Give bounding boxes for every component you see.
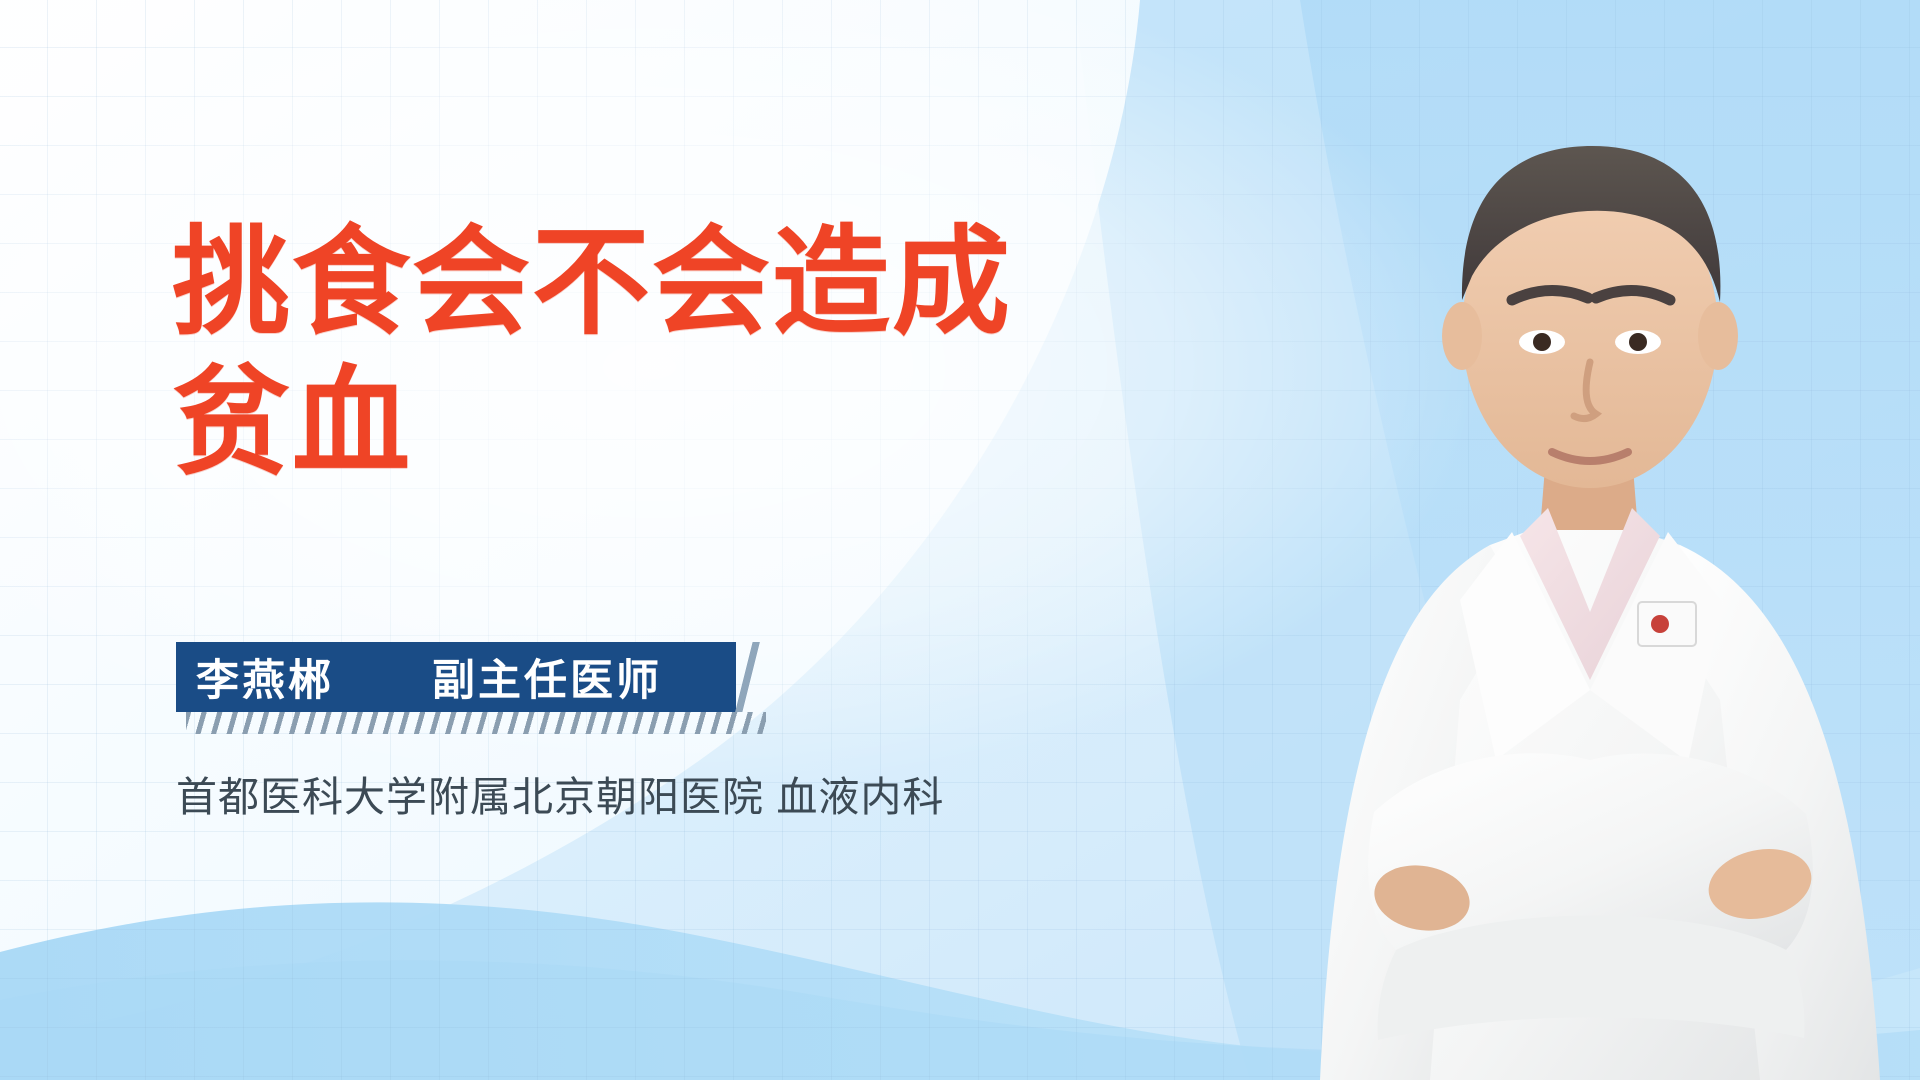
- doctor-credential-badge: 李燕郴 副主任医师: [176, 642, 766, 734]
- page-title: 挑食会不会造成 贫血: [172, 213, 1162, 494]
- hatch-band-icon: [186, 712, 766, 734]
- doctor-name: 李燕郴: [196, 646, 334, 708]
- doctor-affiliation: 首都医科大学附属北京朝阳医院 血液内科: [176, 763, 944, 823]
- credential-bar: 李燕郴 副主任医师: [176, 642, 736, 712]
- doctor-portrait: [1160, 0, 1920, 1080]
- poster-canvas: 挑食会不会造成 贫血 李燕郴 副主任医师 首都医科大学附属北京朝阳医院 血液内科: [0, 0, 1920, 1080]
- doctor-title: 副主任医师: [432, 646, 662, 708]
